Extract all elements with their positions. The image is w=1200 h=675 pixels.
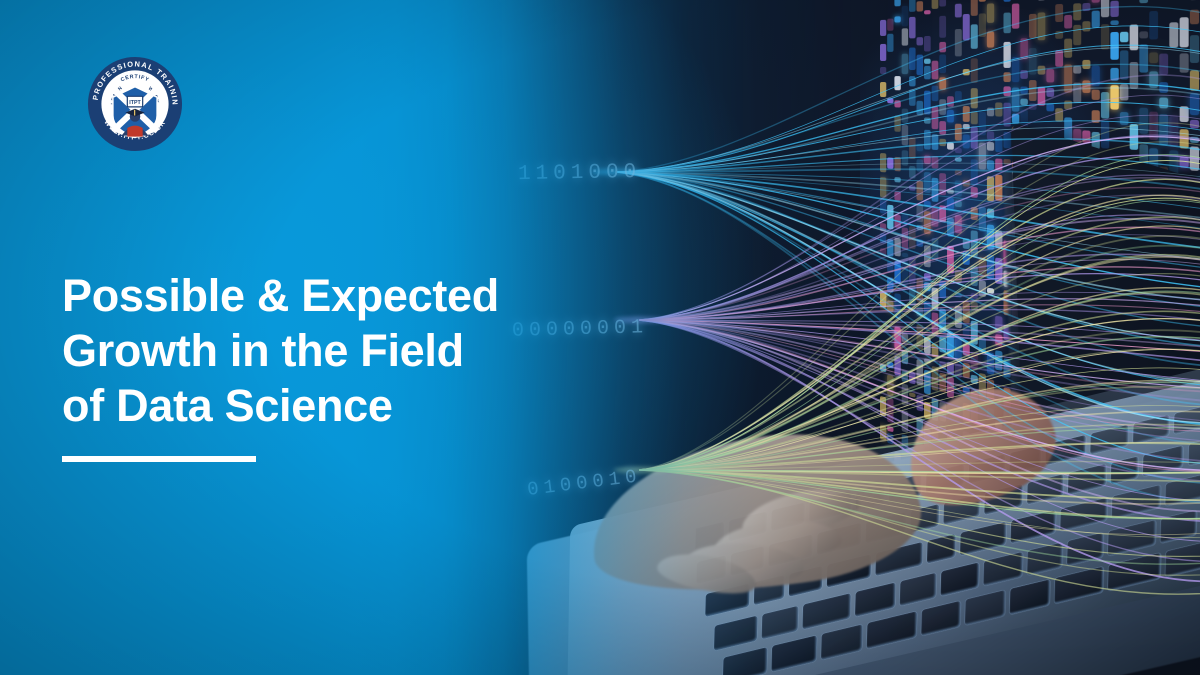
promo-banner: 1101000 00000001 0100010 IT PROFESSIONAL…: [0, 0, 1200, 675]
headline-underline: [62, 456, 256, 462]
headline-line-2: Growth in the Field: [62, 323, 532, 378]
svg-text:ITPT: ITPT: [129, 100, 141, 106]
page-title: Possible & Expected Growth in the Field …: [62, 268, 532, 433]
logo[interactable]: IT PROFESSIONAL TRAINING WWW.ITPT.CO.UK …: [87, 56, 183, 152]
content-layer: IT PROFESSIONAL TRAINING WWW.ITPT.CO.UK …: [0, 0, 1200, 675]
headline-line-1: Possible & Expected: [62, 268, 532, 323]
logo-monogram: ITPT: [127, 96, 142, 107]
headline-line-3: of Data Science: [62, 378, 532, 433]
